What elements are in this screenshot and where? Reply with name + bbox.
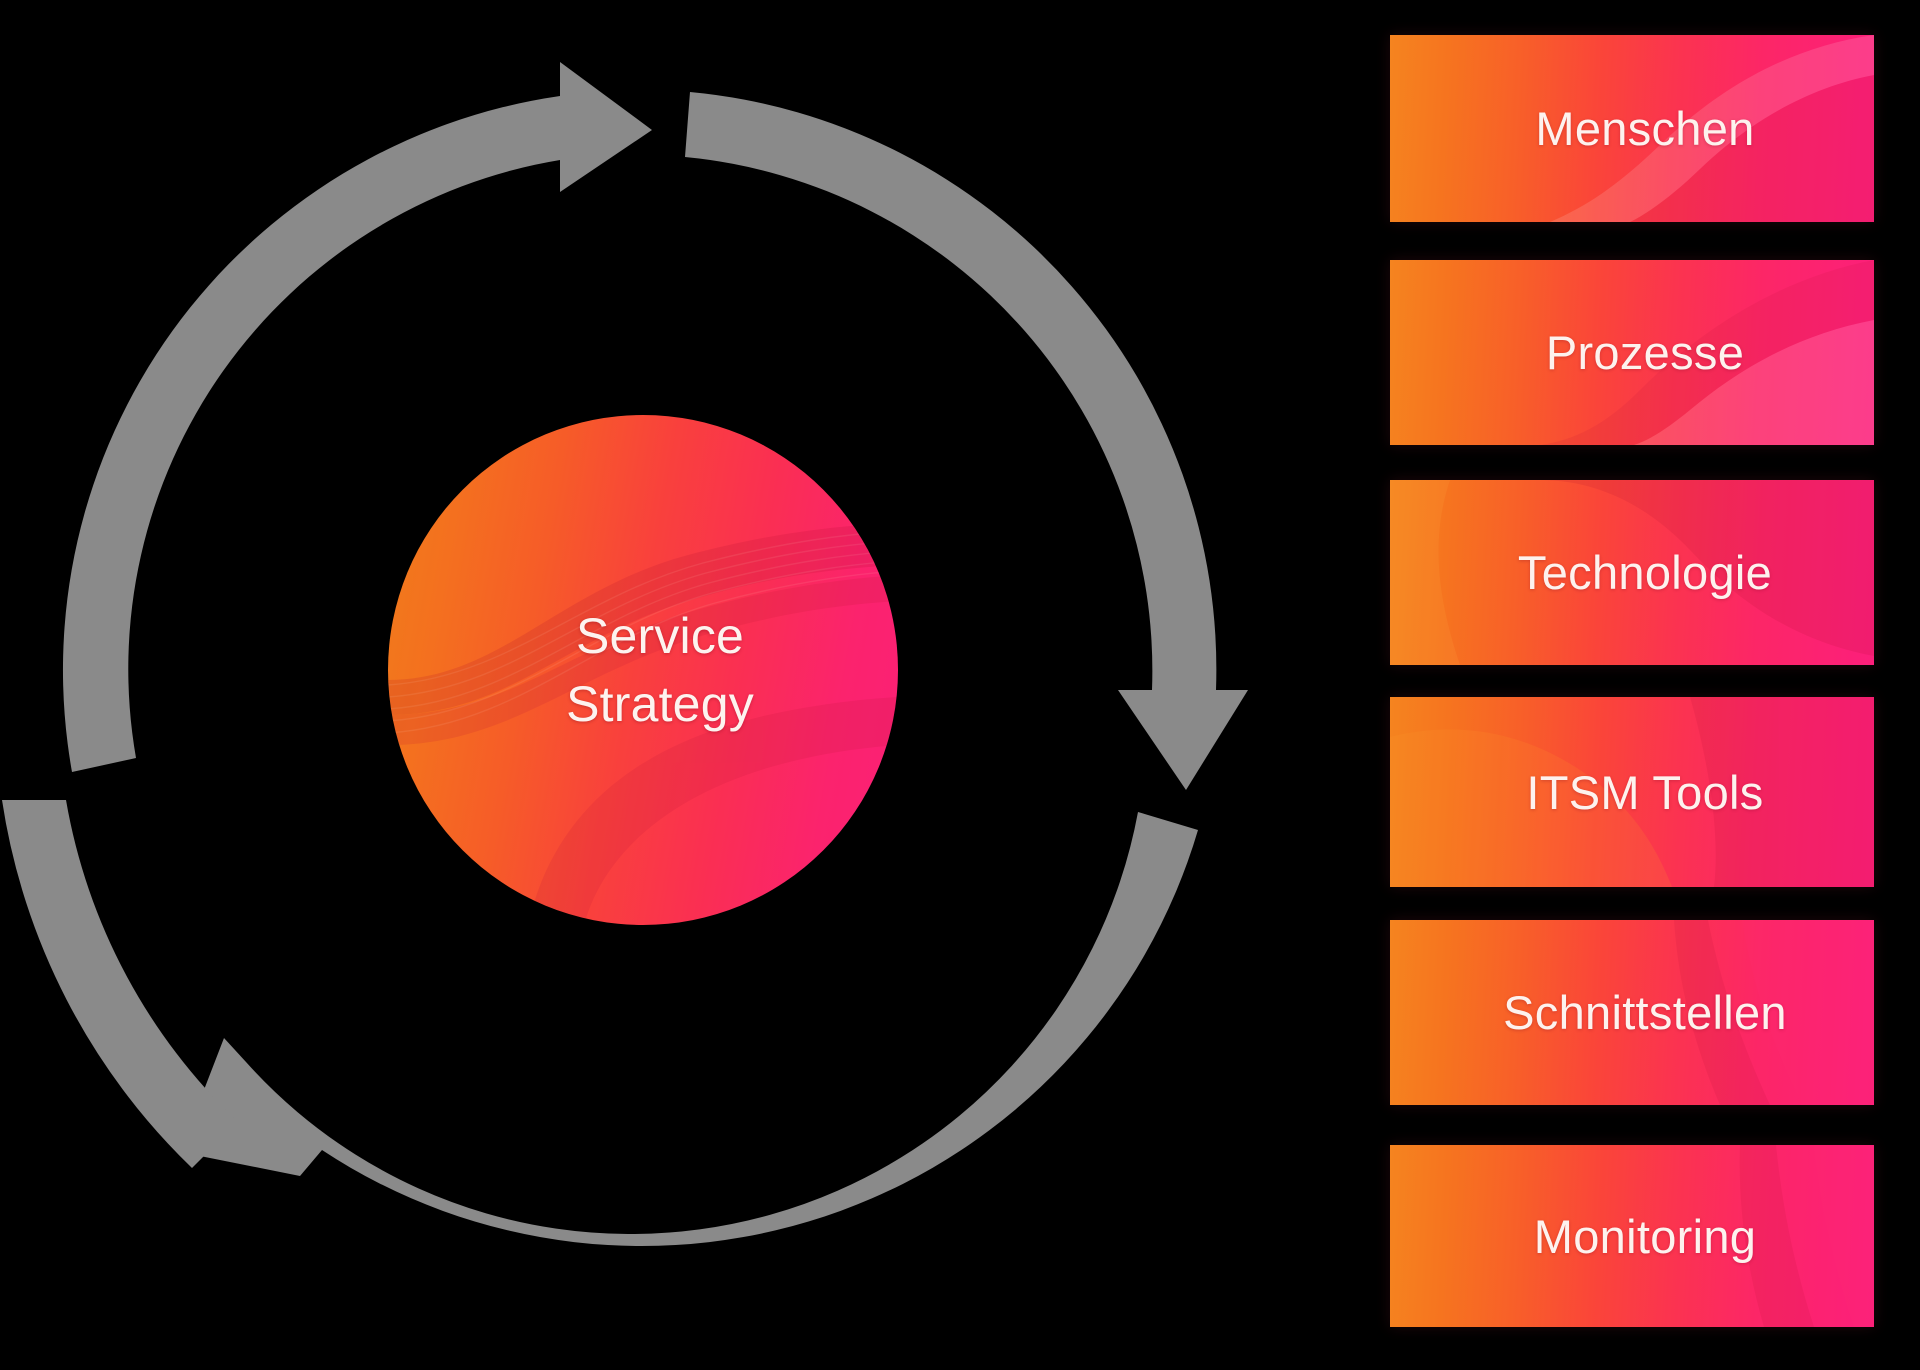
center-label-line2: Strategy bbox=[566, 670, 754, 738]
pillar-box-schnittstellen[interactable]: Schnittstellen bbox=[1390, 920, 1874, 1105]
pillar-label: Technologie bbox=[1492, 545, 1772, 600]
pillar-box-prozesse[interactable]: Prozesse bbox=[1390, 260, 1874, 445]
center-label-line1: Service bbox=[566, 602, 754, 670]
pillar-box-itsm-tools[interactable]: ITSM Tools bbox=[1390, 697, 1874, 887]
service-strategy-circle[interactable]: Service Strategy bbox=[388, 415, 898, 925]
pillar-list: Menschen Prozesse Technologie bbox=[1390, 0, 1874, 1370]
pillar-box-technologie[interactable]: Technologie bbox=[1390, 480, 1874, 665]
pillar-box-menschen[interactable]: Menschen bbox=[1390, 35, 1874, 222]
pillar-label: Monitoring bbox=[1508, 1209, 1756, 1264]
center-label: Service Strategy bbox=[532, 602, 754, 738]
pillar-label: Menschen bbox=[1509, 101, 1754, 156]
pillar-box-monitoring[interactable]: Monitoring bbox=[1390, 1145, 1874, 1327]
cycle-arc-left bbox=[2, 800, 238, 1168]
pillar-label: ITSM Tools bbox=[1500, 765, 1763, 820]
diagram-canvas: Service Strategy Menschen Prozesse bbox=[0, 0, 1920, 1370]
pillar-label: Schnittstellen bbox=[1477, 985, 1787, 1040]
pillar-label: Prozesse bbox=[1520, 325, 1744, 380]
